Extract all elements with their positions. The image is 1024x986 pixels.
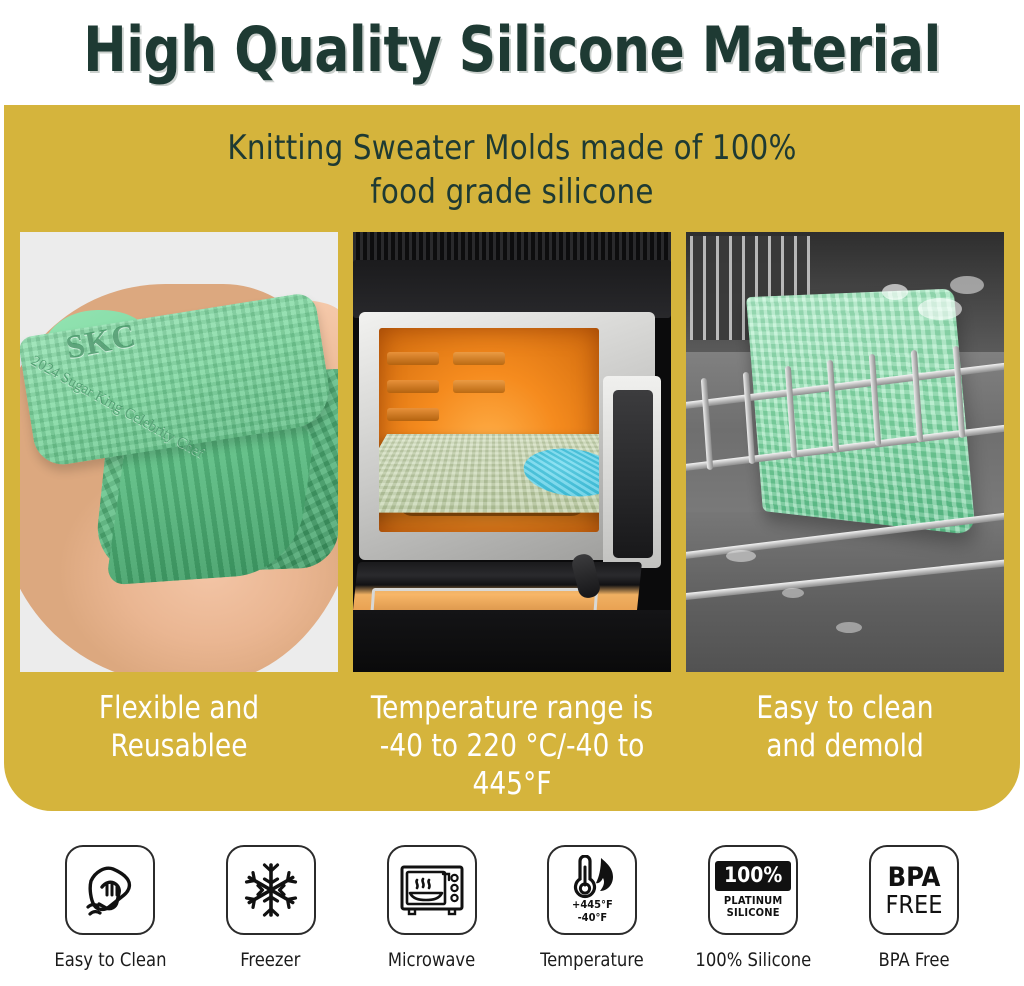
icon-box bbox=[387, 845, 477, 935]
badge-subtext: PLATINUM SILICONE bbox=[724, 895, 783, 920]
feature-label: Easy to Clean bbox=[54, 949, 166, 971]
bpa-line1: BPA bbox=[885, 864, 942, 891]
photo-hand-flexing-green-silicone-mold: SKC 2024 Sugar King Celebrity Chef bbox=[20, 232, 338, 672]
oven-rail bbox=[387, 408, 439, 421]
silicone-mat-in-oven bbox=[379, 434, 599, 513]
header-banner: High Quality Silicone Material bbox=[0, 0, 1024, 100]
feature-icon-strip: Easy to Clean bbox=[40, 845, 984, 971]
caption-line2: Reusablee bbox=[28, 728, 330, 766]
badge-100-percent: 100% bbox=[715, 861, 791, 891]
water-splash bbox=[882, 284, 908, 300]
feature-panel: Knitting Sweater Molds made of 100% food… bbox=[4, 105, 1020, 811]
bpa-line2: FREE bbox=[885, 892, 942, 917]
feature-temperature[interactable]: +445°F -40°F Temperature bbox=[522, 845, 662, 971]
bpa-free-icon: BPA FREE bbox=[885, 864, 942, 917]
icon-box: +445°F -40°F bbox=[547, 845, 637, 935]
feature-100-percent-silicone[interactable]: 100% PLATINUM SILICONE 100% Silicone bbox=[683, 845, 823, 971]
feature-easy-to-clean[interactable]: Easy to Clean bbox=[40, 845, 180, 971]
oven-rail bbox=[453, 352, 505, 365]
water-splash bbox=[950, 276, 984, 294]
caption-temperature: Temperature range is -40 to 220 °C/-40 t… bbox=[361, 690, 663, 803]
caption-easy-to-clean: Easy to clean and demold bbox=[694, 690, 996, 803]
oven-top-surface bbox=[353, 260, 671, 318]
oven-vents bbox=[353, 232, 671, 262]
icon-inner: +445°F -40°F bbox=[563, 855, 621, 924]
caption-flexible: Flexible and Reusablee bbox=[28, 690, 330, 803]
caption-line1: Flexible and bbox=[99, 690, 259, 726]
caption-line1: Easy to clean bbox=[756, 690, 933, 726]
panel-subtitle-line1: Knitting Sweater Molds made of 100% bbox=[227, 128, 796, 168]
oven-rail bbox=[453, 380, 505, 393]
photo-row: SKC 2024 Sugar King Celebrity Chef bbox=[20, 232, 1004, 672]
oven-rail bbox=[387, 352, 439, 365]
blue-silicone-mold bbox=[521, 449, 599, 497]
oven-control-screen bbox=[613, 390, 653, 558]
feature-label: 100% Silicone bbox=[695, 949, 811, 971]
panel-subtitle-line2: food grade silicone bbox=[24, 171, 999, 215]
feature-label: Freezer bbox=[241, 949, 301, 971]
thermometer-flame-icon bbox=[563, 855, 621, 899]
feature-microwave[interactable]: Microwave bbox=[362, 845, 502, 971]
feature-label: BPA Free bbox=[878, 949, 949, 971]
water-splash bbox=[918, 298, 962, 320]
icon-box: BPA FREE bbox=[869, 845, 959, 935]
snowflake-icon bbox=[241, 860, 301, 920]
temperature-values: +445°F -40°F bbox=[572, 899, 613, 924]
page-title: High Quality Silicone Material bbox=[83, 19, 941, 81]
feature-bpa-free[interactable]: BPA FREE BPA Free bbox=[844, 845, 984, 971]
caption-row: Flexible and Reusablee Temperature range… bbox=[20, 690, 1004, 803]
hand-wiping-cloth-icon bbox=[79, 859, 141, 921]
caption-line2: -40 to 220 °C/-40 to 445°F bbox=[361, 728, 663, 804]
panel-subtitle: Knitting Sweater Molds made of 100% food… bbox=[24, 127, 999, 214]
caption-line2: and demold bbox=[694, 728, 996, 766]
badge-line2: SILICONE bbox=[724, 907, 783, 919]
water-splash bbox=[836, 622, 862, 633]
feature-label: Microwave bbox=[388, 949, 475, 971]
oven-base bbox=[353, 610, 671, 672]
photo-dishwasher-rack bbox=[686, 232, 1004, 672]
oven-rail bbox=[387, 380, 439, 393]
temp-low: -40°F bbox=[572, 912, 613, 925]
water-splash bbox=[782, 588, 804, 598]
oven-cavity bbox=[379, 328, 599, 532]
icon-box: 100% PLATINUM SILICONE bbox=[708, 845, 798, 935]
photo-oven-with-silicone-mat bbox=[353, 232, 671, 672]
water-splash bbox=[726, 550, 756, 562]
icon-box bbox=[226, 845, 316, 935]
feature-label: Temperature bbox=[541, 949, 645, 971]
caption-line1: Temperature range is bbox=[371, 690, 653, 726]
feature-freezer[interactable]: Freezer bbox=[201, 845, 341, 971]
icon-box bbox=[65, 845, 155, 935]
rack-tine bbox=[701, 378, 713, 470]
microwave-oven-icon bbox=[399, 862, 465, 918]
platinum-silicone-badge-icon: 100% PLATINUM SILICONE bbox=[715, 861, 791, 920]
green-silicone-mat-washing bbox=[746, 289, 976, 536]
